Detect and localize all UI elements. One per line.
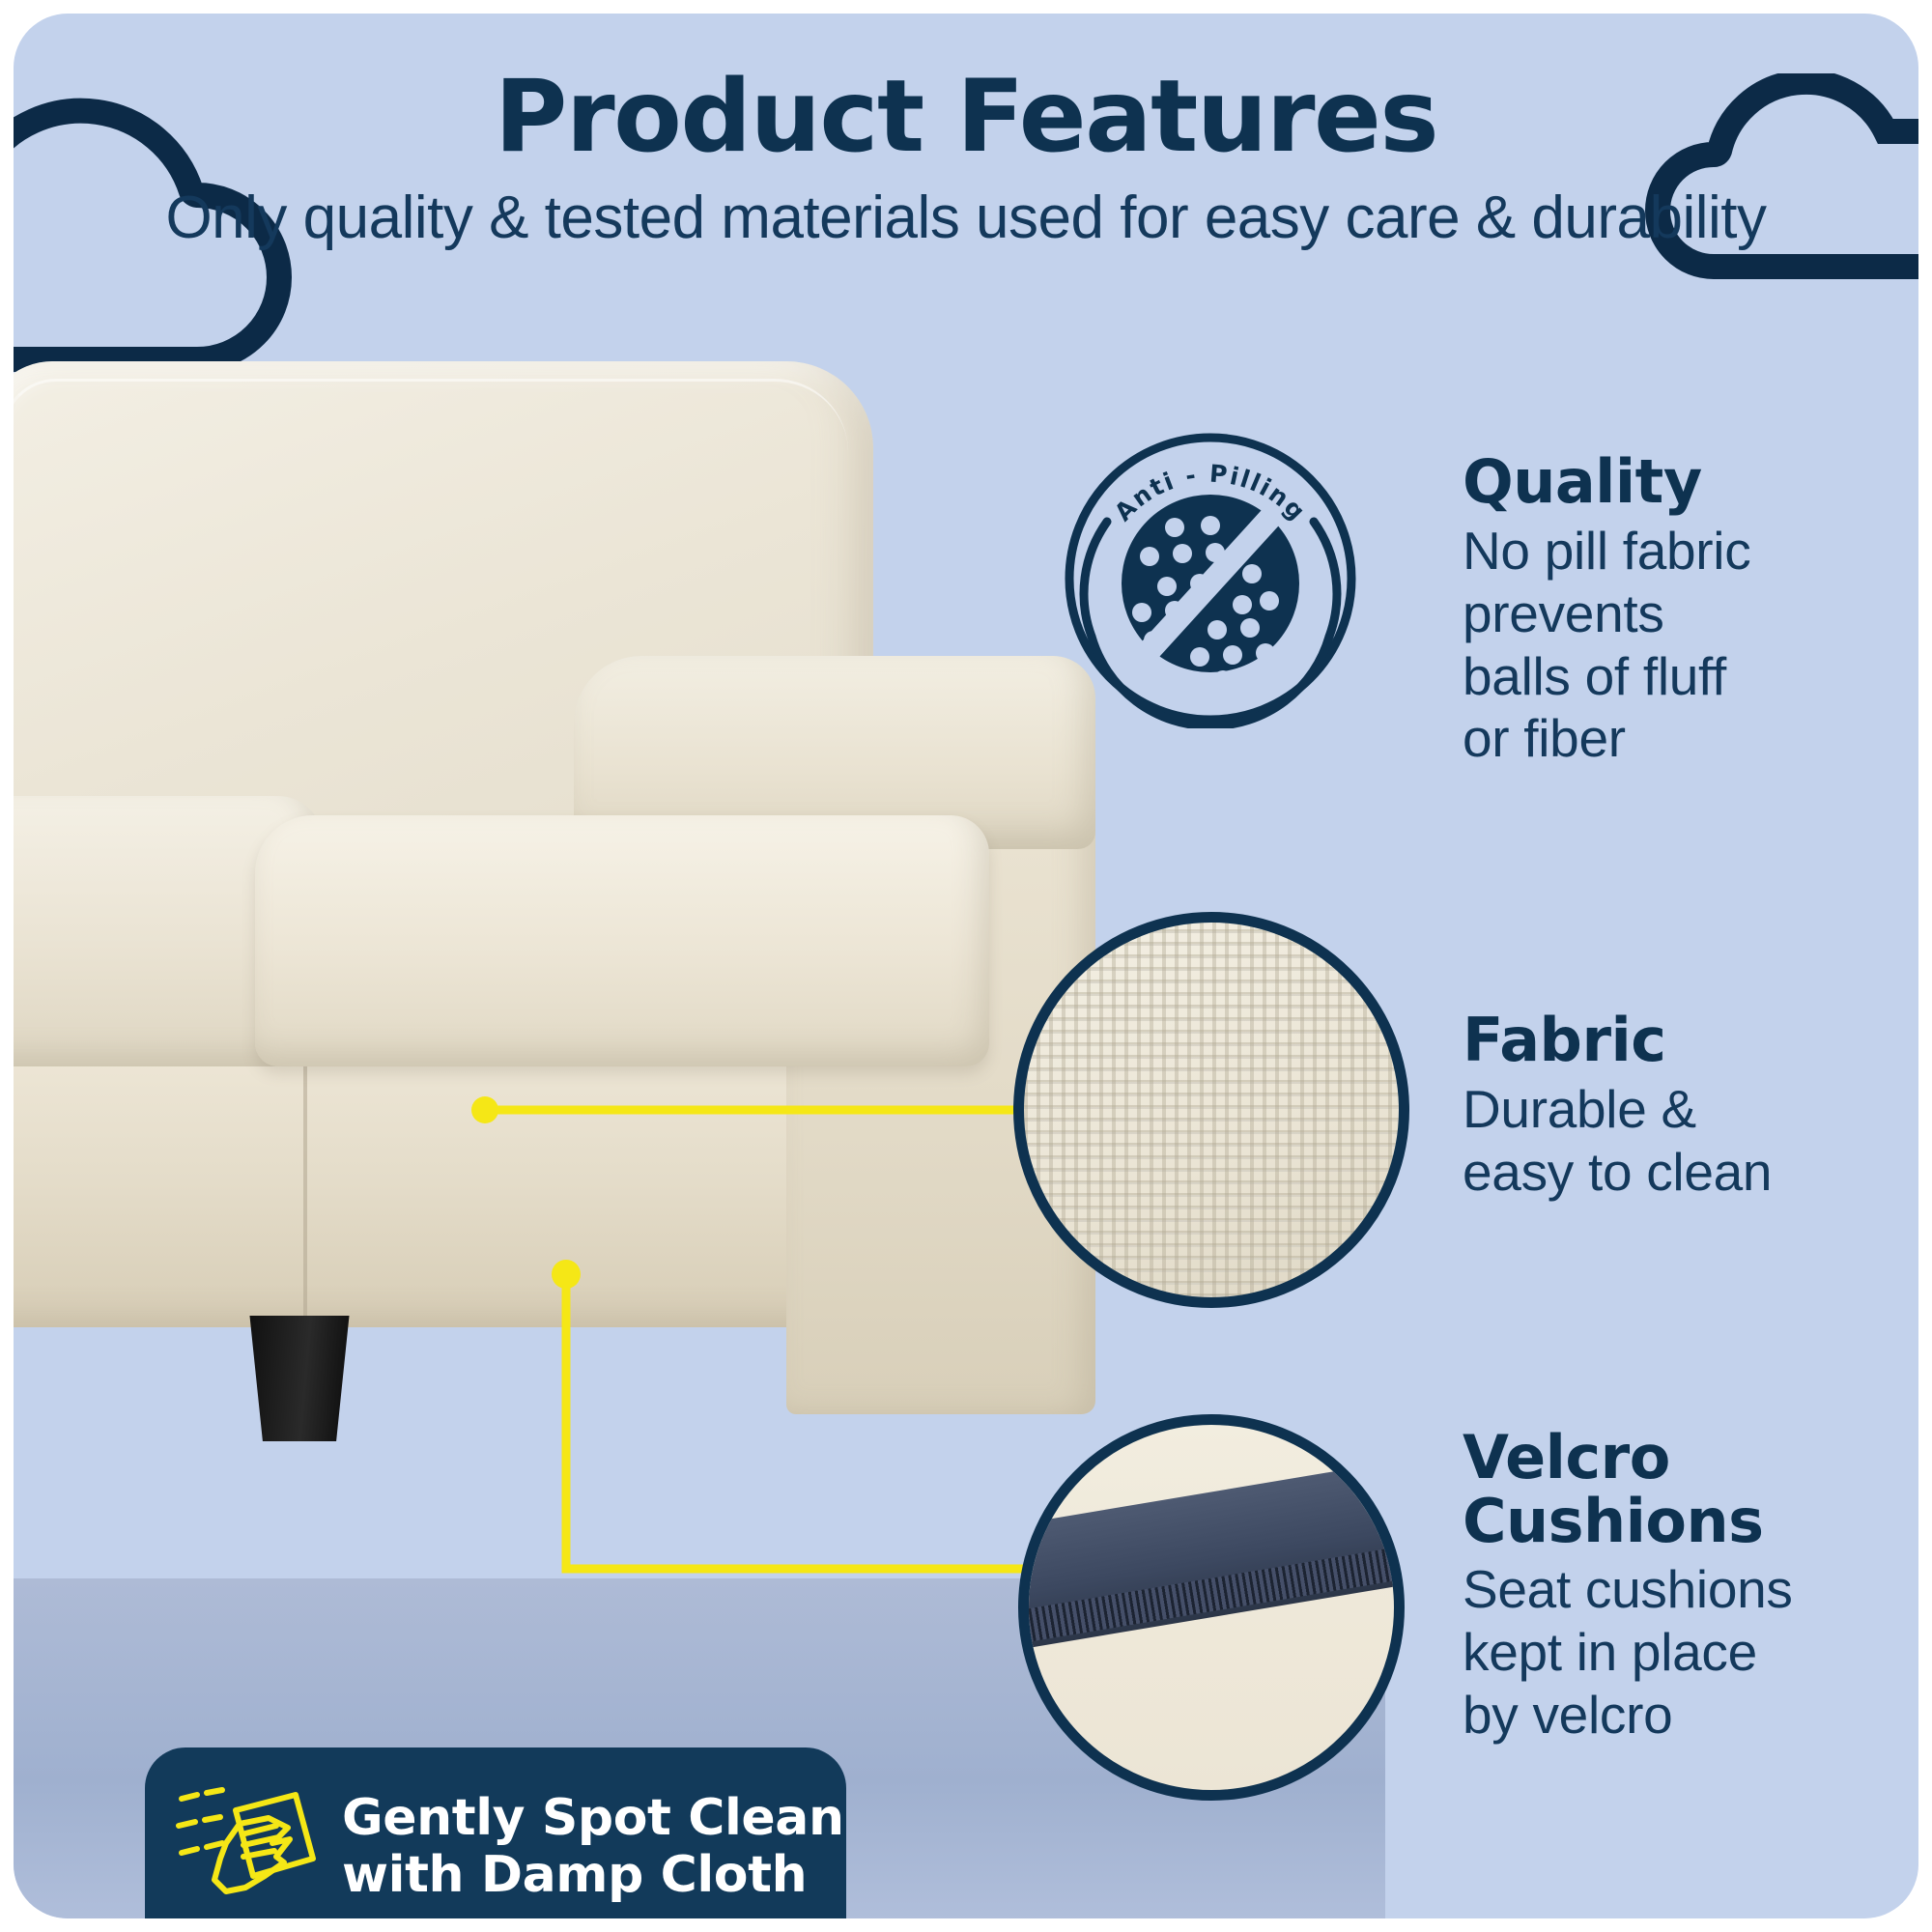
feature-velcro-line-2: kept in place [1463, 1621, 1918, 1684]
page-subtitle: Only quality & tested materials used for… [14, 181, 1918, 256]
feature-quality-line-3: balls of fluff [1463, 645, 1917, 708]
feature-quality-line-1: No pill fabric [1463, 520, 1917, 582]
feature-velcro-title-line-2: Cushions [1463, 1486, 1764, 1556]
feature-quality-body: No pill fabric prevents balls of fluff o… [1463, 520, 1917, 771]
feature-quality: Quality No pill fabric prevents balls of… [1463, 450, 1917, 770]
sofa-base-seam [303, 1037, 307, 1327]
fabric-detail-circle [1013, 912, 1409, 1308]
sofa-leg [245, 1316, 354, 1441]
care-line-2: with Damp Cloth [342, 1847, 844, 1904]
anti-pilling-badge-icon: Anti - Pilling [1061, 429, 1360, 728]
subtitle-line-2: for easy care & durability [1120, 185, 1766, 251]
feature-velcro-body: Seat cushions kept in place by velcro [1463, 1558, 1918, 1747]
velcro-teeth [1018, 1528, 1405, 1650]
care-instruction-badge: Gently Spot Clean with Damp Cloth [145, 1747, 846, 1918]
feature-velcro-title: Velcro Cushions [1463, 1426, 1918, 1552]
feature-quality-title: Quality [1463, 450, 1917, 514]
infographic-root: Product Features Only quality & tested m… [0, 0, 1932, 1932]
feature-quality-line-4: or fiber [1463, 707, 1917, 770]
sofa-seat-cushion-right [255, 815, 989, 1066]
feature-velcro-line-3: by velcro [1463, 1684, 1918, 1747]
feature-fabric-line-1: Durable & [1463, 1078, 1917, 1141]
subtitle-line-1: Only quality & tested materials used [165, 185, 1103, 251]
page-title: Product Features [14, 68, 1918, 167]
hand-wiping-cloth-icon [176, 1783, 321, 1911]
feature-quality-line-2: prevents [1463, 582, 1917, 645]
care-line-1: Gently Spot Clean [342, 1790, 844, 1847]
feature-fabric-title: Fabric [1463, 1009, 1917, 1072]
care-instruction-text: Gently Spot Clean with Damp Cloth [342, 1790, 844, 1904]
velcro-strip [1018, 1444, 1405, 1656]
feature-fabric: Fabric Durable & easy to clean [1463, 1009, 1917, 1204]
feature-velcro-line-1: Seat cushions [1463, 1558, 1918, 1621]
main-panel: Product Features Only quality & tested m… [14, 14, 1918, 1918]
header: Product Features Only quality & tested m… [14, 68, 1918, 256]
feature-velcro-title-line-1: Velcro [1463, 1422, 1670, 1492]
feature-fabric-body: Durable & easy to clean [1463, 1078, 1917, 1204]
velcro-detail-circle [1018, 1414, 1405, 1801]
feature-fabric-line-2: easy to clean [1463, 1141, 1917, 1204]
feature-velcro: Velcro Cushions Seat cushions kept in pl… [1463, 1426, 1918, 1747]
